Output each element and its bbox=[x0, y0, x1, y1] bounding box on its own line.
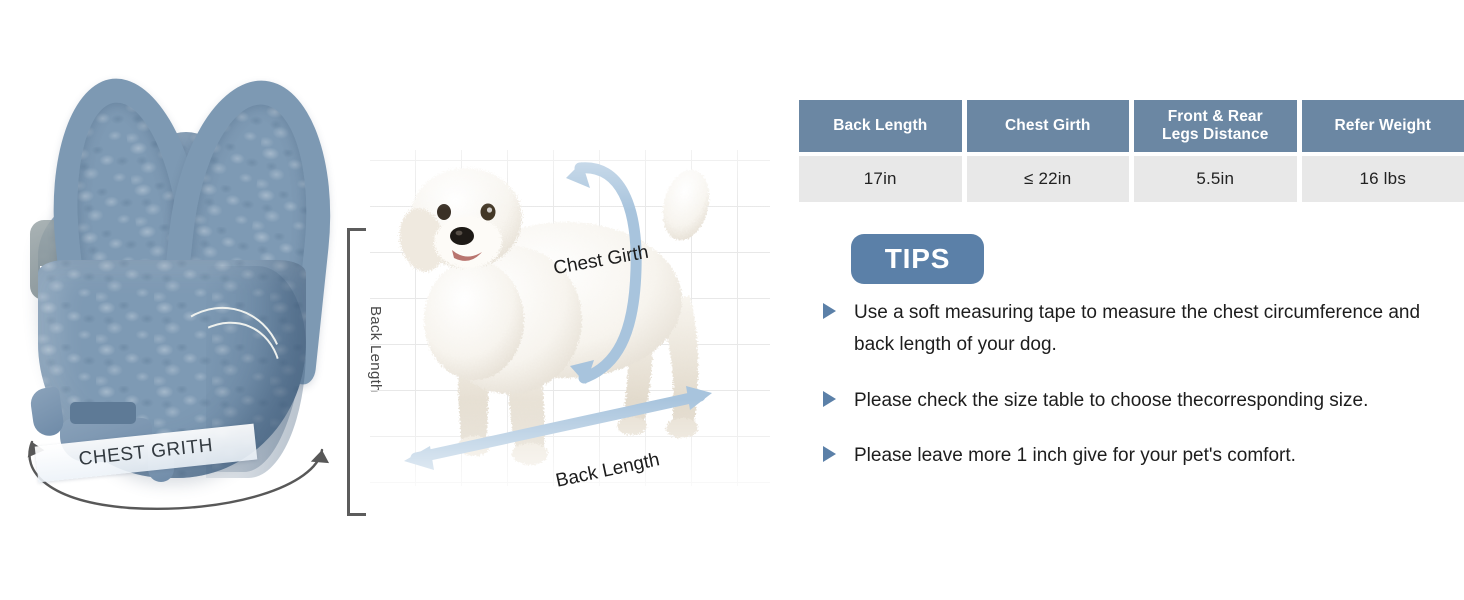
tip-text: Please leave more 1 inch give for your p… bbox=[854, 440, 1296, 472]
size-table-value-row: 17in ≤ 22in 5.5in 16 lbs bbox=[799, 156, 1464, 202]
header-line: Refer Weight bbox=[1334, 117, 1431, 134]
tips-list: Use a soft measuring tape to measure the… bbox=[823, 297, 1443, 495]
triangle-bullet-icon bbox=[823, 446, 836, 462]
size-table-cell-back-length: 17in bbox=[799, 156, 962, 202]
tip-item: Please check the size table to choose th… bbox=[823, 385, 1443, 417]
grid-fade-overlay bbox=[370, 150, 770, 486]
triangle-bullet-icon bbox=[823, 303, 836, 319]
tip-text: Please check the size table to choose th… bbox=[854, 385, 1368, 417]
tips-badge-label: TIPS bbox=[885, 243, 950, 275]
size-table-header-refer-weight: Refer Weight bbox=[1302, 100, 1464, 152]
bracket-shape bbox=[347, 228, 366, 516]
tips-badge: TIPS bbox=[851, 234, 984, 284]
size-table: Back Length Chest Girth Front & Rear Leg… bbox=[799, 100, 1464, 202]
size-table-header-chest-girth: Chest Girth bbox=[967, 100, 1130, 152]
header-line: Front & Rear bbox=[1168, 108, 1263, 125]
header-line: Chest Girth bbox=[1005, 117, 1091, 134]
size-table-cell-chest-girth: ≤ 22in bbox=[967, 156, 1130, 202]
tip-text: Use a soft measuring tape to measure the… bbox=[854, 297, 1434, 362]
triangle-bullet-icon bbox=[823, 391, 836, 407]
header-line: Back Length bbox=[833, 117, 927, 134]
size-table-cell-legs-distance: 5.5in bbox=[1134, 156, 1297, 202]
carrier-artwork: CHEST GRITH bbox=[0, 70, 360, 540]
size-guide-infographic: CHEST GRITH Back Length bbox=[0, 0, 1464, 600]
header-line: Legs Distance bbox=[1162, 126, 1268, 143]
carrier-tab-left bbox=[29, 386, 65, 438]
tip-item: Please leave more 1 inch give for your p… bbox=[823, 440, 1443, 472]
carrier-bottom-strip bbox=[70, 402, 136, 424]
dog-measurement-illustration: Chest Girth Back Length bbox=[370, 150, 770, 490]
size-table-header-back-length: Back Length bbox=[799, 100, 962, 152]
size-table-header-legs-distance: Front & Rear Legs Distance bbox=[1134, 100, 1297, 152]
size-table-header-row: Back Length Chest Girth Front & Rear Leg… bbox=[799, 100, 1464, 152]
carrier-product-illustration: CHEST GRITH bbox=[0, 70, 360, 540]
size-table-cell-refer-weight: 16 lbs bbox=[1302, 156, 1464, 202]
chest-girth-ribbon-label: CHEST GRITH bbox=[78, 435, 215, 471]
tip-item: Use a soft measuring tape to measure the… bbox=[823, 297, 1443, 362]
